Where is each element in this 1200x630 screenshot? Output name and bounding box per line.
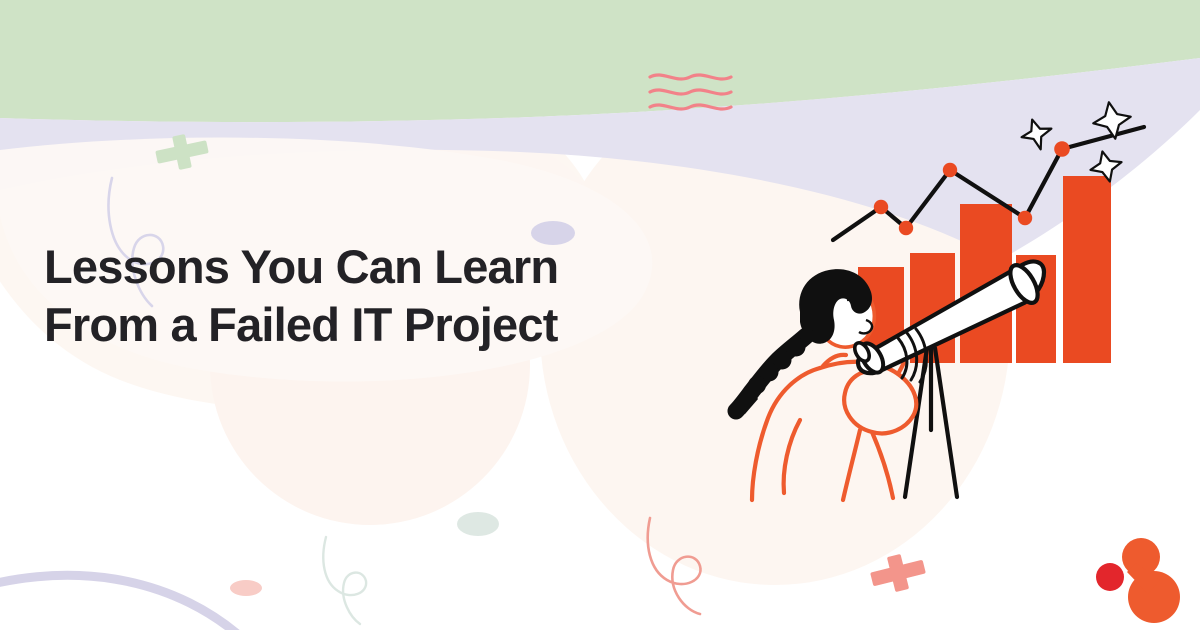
sparkle-star-1 — [1018, 115, 1056, 153]
headline-line-2: From a Failed IT Project — [44, 296, 664, 354]
sparkle-star-2 — [1090, 99, 1134, 142]
telescope-tripod — [905, 348, 957, 497]
braid-segment-1 — [787, 338, 806, 357]
chart-line-marker-4 — [1018, 211, 1032, 225]
chart-line-marker-2 — [899, 221, 913, 235]
tripod-leg-right — [935, 348, 957, 497]
woman-side-line — [872, 432, 893, 498]
sparkle-stars — [1018, 99, 1134, 185]
chart-line-marker-3 — [943, 163, 957, 177]
chart-bar-5 — [1063, 176, 1111, 363]
chart-line-marker-5 — [1054, 141, 1070, 157]
woman-head — [736, 269, 874, 414]
headline-line-1: Lessons You Can Learn — [44, 238, 664, 296]
brand-logo[interactable] — [1096, 538, 1180, 623]
woman-skirt-line — [843, 430, 860, 500]
headline-block: Lessons You Can Learn From a Failed IT P… — [44, 238, 664, 354]
hero-banner: Lessons You Can Learn From a Failed IT P… — [0, 0, 1200, 630]
woman-sleeve-left — [784, 420, 800, 493]
logo-dot-red — [1096, 563, 1124, 591]
chart-line-marker-1 — [874, 200, 888, 214]
